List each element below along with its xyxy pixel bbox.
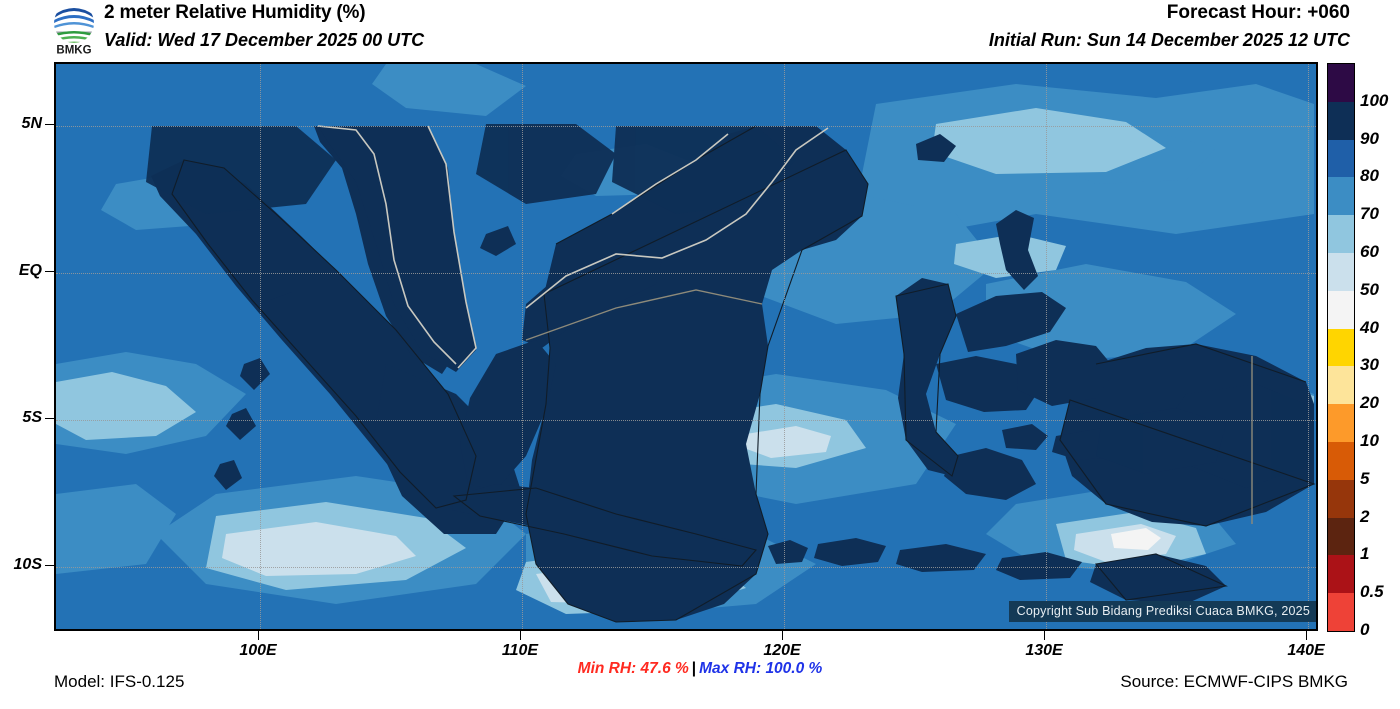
initial-run-label: Initial Run: Sun 14 December 2025 12 UTC	[989, 30, 1350, 51]
tick-lat-10S	[45, 565, 54, 566]
tick-lon-100E	[258, 631, 259, 640]
tick-lon-110E	[520, 631, 521, 640]
label-lat-5N: 5N	[22, 115, 42, 133]
colorbar-label-0: 0	[1360, 620, 1369, 640]
tick-lat-5S	[45, 418, 54, 419]
colorbar-band-8	[1328, 366, 1354, 404]
gridline-lat-10S	[56, 567, 1316, 568]
humidity-field	[56, 64, 1316, 629]
colorbar-band-7	[1328, 329, 1354, 367]
tick-lat-EQ	[45, 271, 54, 272]
colorbar-label-20: 20	[1360, 393, 1379, 413]
gridline-lon-140E	[1308, 64, 1309, 629]
label-lat-10S: 10S	[14, 556, 42, 574]
gridline-lon-130E	[1046, 64, 1047, 629]
colorbar-band-5	[1328, 253, 1354, 291]
copyright-watermark: Copyright Sub Bidang Prediksi Cuaca BMKG…	[1009, 601, 1316, 622]
page-title: 2 meter Relative Humidity (%)	[104, 2, 365, 24]
gridline-lat-5S	[56, 420, 1316, 421]
colorbar-band-3	[1328, 177, 1354, 215]
gridline-lon-110E	[522, 64, 523, 629]
colorbar[interactable]	[1327, 63, 1355, 632]
gridline-lat-EQ	[56, 273, 1316, 274]
map-plot-area[interactable]: Copyright Sub Bidang Prediksi Cuaca BMKG…	[54, 62, 1318, 631]
label-lon-140E: 140E	[1287, 642, 1324, 660]
svg-text:BMKG: BMKG	[56, 45, 91, 57]
colorbar-label-10: 10	[1360, 431, 1379, 451]
max-rh-value: Max RH: 100.0 %	[699, 660, 822, 677]
tick-lon-140E	[1306, 631, 1307, 640]
colorbar-band-4	[1328, 215, 1354, 253]
colorbar-label-5: 5	[1360, 469, 1369, 489]
bmkg-logo: BMKG	[46, 2, 102, 56]
gridline-lon-100E	[260, 64, 261, 629]
label-lat-EQ: EQ	[19, 262, 42, 280]
colorbar-band-2	[1328, 140, 1354, 178]
colorbar-label-70: 70	[1360, 204, 1379, 224]
colorbar-label-50: 50	[1360, 280, 1379, 300]
min-rh-value: Min RH: 47.6 %	[578, 660, 689, 677]
colorbar-label-30: 30	[1360, 355, 1379, 375]
rh-stats: Min RH: 47.6 %|Max RH: 100.0 %	[0, 660, 1400, 678]
colorbar-band-11	[1328, 480, 1354, 518]
forecast-hour-label: Forecast Hour: +060	[1167, 2, 1350, 24]
label-lon-110E: 110E	[502, 642, 538, 660]
colorbar-label-40: 40	[1360, 318, 1379, 338]
tick-lat-5N	[45, 124, 54, 125]
colorbar-band-12	[1328, 518, 1354, 556]
colorbar-labels: 1009080706050403020105210.50	[1360, 63, 1400, 630]
label-lat-5S: 5S	[22, 409, 42, 427]
stats-separator: |	[689, 660, 699, 677]
tick-lon-130E	[1044, 631, 1045, 640]
colorbar-label-80: 80	[1360, 166, 1379, 186]
colorbar-label-0-5: 0.5	[1360, 582, 1384, 602]
colorbar-band-9	[1328, 404, 1354, 442]
colorbar-label-2: 2	[1360, 507, 1369, 527]
colorbar-label-1: 1	[1360, 544, 1369, 564]
colorbar-label-100: 100	[1360, 91, 1388, 111]
colorbar-label-60: 60	[1360, 242, 1379, 262]
colorbar-band-1	[1328, 102, 1354, 140]
label-lon-130E: 130E	[1025, 642, 1062, 660]
header: BMKG 2 meter Relative Humidity (%) Valid…	[0, 0, 1400, 58]
colorbar-band-10	[1328, 442, 1354, 480]
tick-lon-120E	[782, 631, 783, 640]
valid-time-label: Valid: Wed 17 December 2025 00 UTC	[104, 30, 424, 51]
colorbar-label-90: 90	[1360, 129, 1379, 149]
colorbar-band-6	[1328, 291, 1354, 329]
colorbar-band-13	[1328, 555, 1354, 593]
gridline-lat-5N	[56, 126, 1316, 127]
label-lon-100E: 100E	[239, 642, 276, 660]
colorbar-band-14	[1328, 593, 1354, 631]
label-lon-120E: 120E	[763, 642, 800, 660]
colorbar-band-0	[1328, 64, 1354, 102]
gridline-lon-120E	[784, 64, 785, 629]
